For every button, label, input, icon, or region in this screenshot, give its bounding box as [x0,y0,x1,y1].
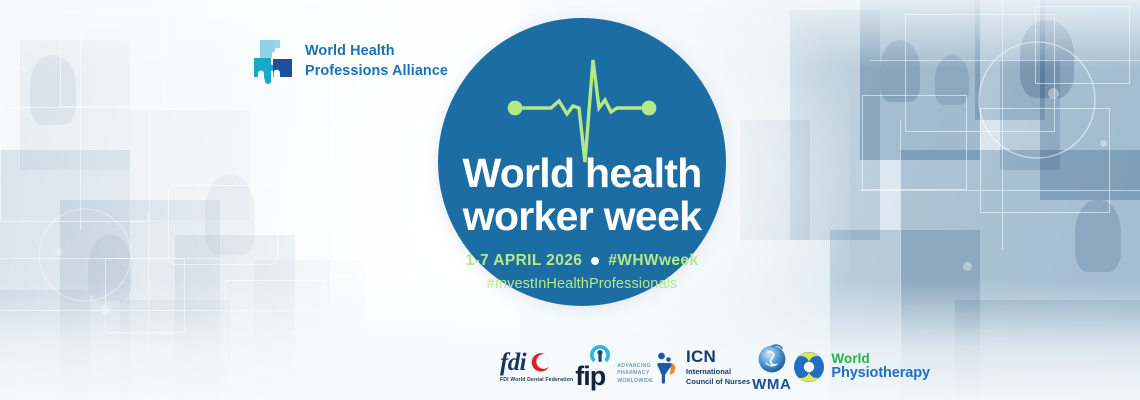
collage-line [80,0,81,230]
world-physiotherapy-text: World Physiotherapy [831,352,930,382]
fip-tagline: ADVANCING PHARMACY WORLDWIDE [617,363,653,386]
puzzle-pieces-icon [252,38,294,86]
wma-wordmark: WMA [752,376,791,393]
whpa-logo[interactable]: World Health Professions Alliance [252,38,448,86]
collage-outline [168,185,278,265]
wp-wordmark-line-2: Physiotherapy [831,366,930,381]
campaign-title-line-2: worker week [438,195,726,238]
fip-tagline-line-1: ADVANCING [617,363,653,371]
bokeh-dot [22,66,28,72]
partner-logo-icn[interactable]: ICN International Council of Nurses [655,348,750,387]
fip-tagline-line-3: WORLDWIDE [617,378,653,386]
bokeh-dot [100,305,110,315]
partner-logo-wma[interactable]: WMA [752,341,791,393]
campaign-title-line-1: World health [438,152,726,195]
whpa-line-2: Professions Alliance [305,62,448,82]
ecg-dot-left [508,101,523,116]
partner-logo-fip[interactable]: fip ADVANCING PHARMACY WORLDWIDE [575,344,653,390]
bokeh-dot [55,248,63,256]
campaign-date-row: 1-7 APRIL 2026 #WHWweek [438,252,726,270]
fdi-wordmark: fdi [500,351,526,375]
collage-arc [975,38,1100,163]
wp-wordmark-line-1: World [831,352,930,366]
fip-wordmark: fip [575,361,605,391]
bokeh-dot [963,262,972,271]
icn-subtitle: International Council of Nurses [686,367,750,387]
blue-orange-figure-icon [655,350,681,384]
icn-subtitle-line-1: International [686,367,750,377]
ecg-dot-right [642,101,657,116]
fip-tagline-line-2: PHARMACY [617,370,653,378]
collage-tile [0,290,90,400]
collage-tile [740,120,810,240]
collage-line [148,212,149,400]
bokeh-dot [1048,88,1059,99]
collage-outline [862,95,967,190]
collage-arc [35,205,135,305]
blue-globe-serpent-icon [755,341,789,375]
icn-text-block: ICN International Council of Nurses [686,348,750,387]
fip-wordmark-stack: fip [575,344,613,390]
collage-outline [330,275,450,355]
campaign-circle-badge: World health worker week 1-7 APRIL 2026 … [438,18,726,306]
whpa-line-1: World Health [305,42,448,62]
partner-logo-world-physiotherapy[interactable]: World Physiotherapy [793,351,930,383]
campaign-dates: 1-7 APRIL 2026 [466,252,583,270]
fdi-wordmark-row: fdi [500,351,551,375]
collage-outline [60,12,165,107]
bokeh-dot [290,330,297,337]
campaign-hashtag-secondary: #InvestInHealthProfessionals [438,276,726,292]
icn-wordmark: ICN [686,348,750,365]
fdi-subtitle: FDI World Dental Federation [500,377,573,383]
collage-tile [955,300,1140,400]
collage-outline [225,280,325,370]
blue-yellow-pinwheel-circle-icon [793,351,825,383]
dot-separator-icon [591,257,599,265]
collage-line [900,120,901,360]
partner-logo-row: fdi FDI World Dental Federation fip ADVA… [500,338,930,396]
collage-line [0,310,330,311]
partner-logo-fdi[interactable]: fdi FDI World Dental Federation [500,351,573,383]
whpa-logo-text: World Health Professions Alliance [305,42,448,81]
collage-line [860,190,1140,191]
whpa-campaign-banner: World Health Professions Alliance World … [0,0,1140,400]
icn-subtitle-line-2: Council of Nurses [686,377,750,387]
campaign-hashtag-primary: #WHWweek [608,252,698,270]
campaign-text-block: World health worker week 1-7 APRIL 2026 … [438,152,726,292]
red-swoosh-c-icon [527,351,551,375]
bokeh-dot [1100,140,1107,147]
